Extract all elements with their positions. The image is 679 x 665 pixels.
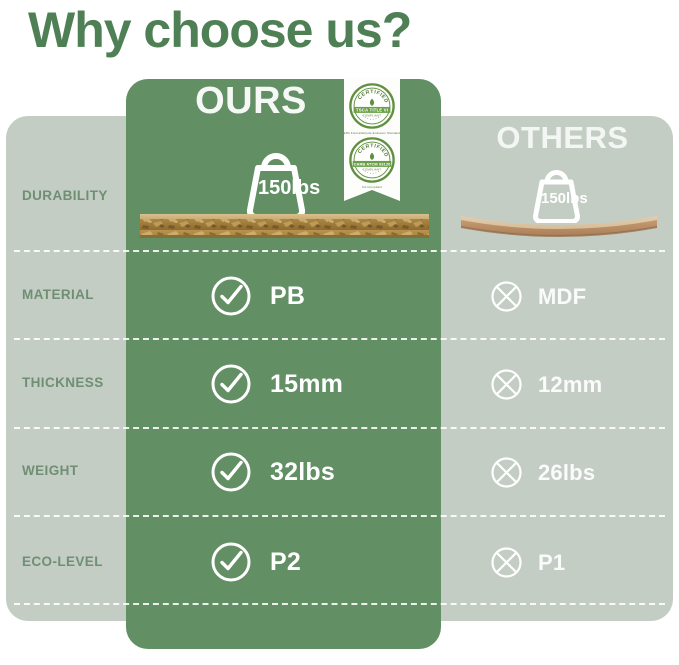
ours-weight-icon: 150lbs xyxy=(238,146,314,223)
row-divider-5 xyxy=(14,603,665,605)
ours-material-cell: PB xyxy=(210,275,305,317)
row-label-weight: WEIGHT xyxy=(22,463,78,478)
others-material-cell: MDF xyxy=(490,280,586,313)
infographic-root: Why choose us? OURS OTHERS CERTIFIED TSC… xyxy=(0,0,679,665)
cross-circle-icon xyxy=(490,456,523,489)
svg-text:TSCA TITLE VI: TSCA TITLE VI xyxy=(356,108,388,113)
certification-ribbon: CERTIFIED TSCA TITLE VI COMPLIANT • • • … xyxy=(344,78,400,190)
row-divider-4 xyxy=(14,515,665,517)
ours-eco-level-cell: P2 xyxy=(210,541,301,583)
tsca-title-vi-seal-icon: CERTIFIED TSCA TITLE VI COMPLIANT • • • … xyxy=(349,83,395,129)
ours-weight-value: 32lbs xyxy=(270,458,335,487)
ours-material-value: PB xyxy=(270,282,305,311)
check-circle-icon xyxy=(210,451,252,493)
row-divider-3 xyxy=(14,427,665,429)
others-material-value: MDF xyxy=(538,284,586,310)
ours-thickness-cell: 15mm xyxy=(210,363,343,405)
ours-durability-value: 150lbs xyxy=(258,177,320,200)
others-column-header: OTHERS xyxy=(455,120,670,156)
others-thickness-value: 12mm xyxy=(538,372,602,398)
ours-thick-plank xyxy=(140,214,429,243)
page-title: Why choose us? xyxy=(28,2,411,58)
others-thin-plank xyxy=(461,212,657,247)
others-weight-value: 26lbs xyxy=(538,460,595,486)
ours-eco-level-value: P2 xyxy=(270,548,301,577)
ours-column-header: OURS xyxy=(126,80,376,123)
row-label-durability: DURABILITY xyxy=(22,188,108,203)
row-label-eco-level: ECO-LEVEL xyxy=(22,554,103,569)
check-circle-icon xyxy=(210,363,252,405)
carb-atcm-seal-icon: CERTIFIED CARB ATCM 93120 COMPLIANT • • … xyxy=(349,137,395,183)
row-label-thickness: THICKNESS xyxy=(22,375,104,390)
cross-circle-icon xyxy=(490,368,523,401)
tsca-seal-caption: EPA Formaldehyde Emission Standard xyxy=(344,131,401,135)
svg-text:CARB ATCM 93120: CARB ATCM 93120 xyxy=(354,162,392,167)
others-eco-level-value: P1 xyxy=(538,550,565,576)
ours-weight-cell: 32lbs xyxy=(210,451,335,493)
others-eco-level-cell: P1 xyxy=(490,546,565,579)
carb-seal-caption: CA Compliant xyxy=(362,185,382,189)
others-thickness-cell: 12mm xyxy=(490,368,602,401)
cross-circle-icon xyxy=(490,546,523,579)
check-circle-icon xyxy=(210,541,252,583)
cross-circle-icon xyxy=(490,280,523,313)
row-label-material: MATERIAL xyxy=(22,287,94,302)
row-divider-1 xyxy=(14,250,665,252)
ours-thickness-value: 15mm xyxy=(270,370,343,399)
others-weight-cell: 26lbs xyxy=(490,456,595,489)
row-divider-2 xyxy=(14,338,665,340)
others-durability-value: 150lbs xyxy=(541,190,588,207)
check-circle-icon xyxy=(210,275,252,317)
